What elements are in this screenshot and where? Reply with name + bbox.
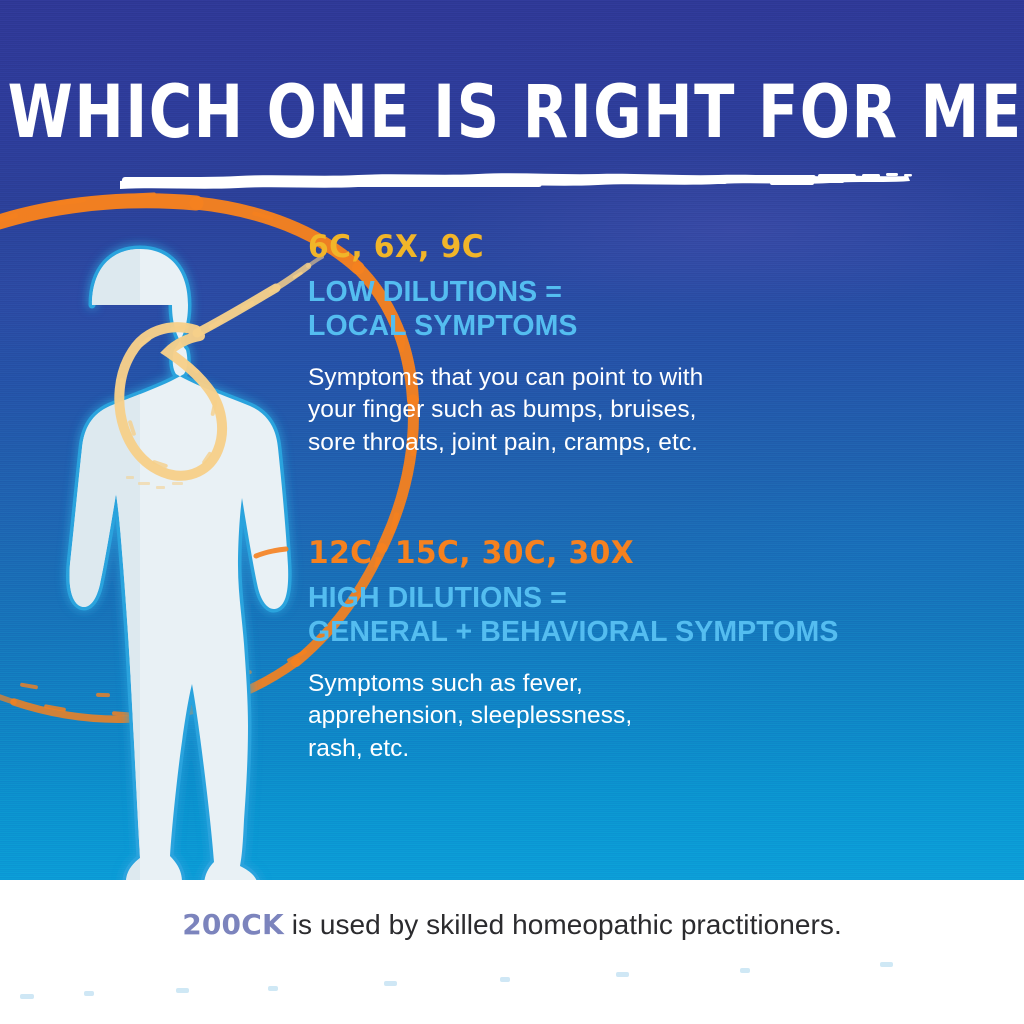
page-title-text: WHICH ONE IS RIGHT FOR ME? — [8, 76, 1017, 149]
low-dilutions-body-line-3: sore throats, joint pain, cramps, etc. — [308, 427, 703, 460]
high-dilutions-body-line-1: Symptoms such as fever, — [308, 668, 839, 701]
low-dilutions-subheading-line-2: LOCAL SYMPTOMS — [308, 310, 703, 344]
high-dilutions-subheading-line-1: HIGH DILUTIONS = — [308, 582, 839, 616]
high-dilutions-body-line-2: apprehension, sleeplessness, — [308, 700, 839, 733]
high-dilutions-block: 12C, 15C, 30C, 30X HIGH DILUTIONS = GENE… — [308, 538, 839, 766]
low-dilutions-body-line-1: Symptoms that you can point to with — [308, 362, 703, 395]
low-dilutions-doses: 6C, 6X, 9C — [308, 232, 688, 263]
high-dilutions-subheading-line-2: GENERAL + BEHAVIORAL SYMPTOMS — [308, 616, 839, 650]
low-dilutions-subheading-line-1: LOW DILUTIONS = — [308, 276, 703, 310]
high-dilutions-doses: 12C, 15C, 30C, 30X — [308, 538, 817, 569]
brushstroke-underline-icon — [118, 168, 920, 194]
high-dilutions-subheading: HIGH DILUTIONS = GENERAL + BEHAVIORAL SY… — [308, 582, 839, 650]
low-dilutions-body-line-2: your finger such as bumps, bruises, — [308, 394, 703, 427]
low-dilutions-subheading: LOW DILUTIONS = LOCAL SYMPTOMS — [308, 276, 703, 344]
footer-dose-accent: 200CK — [182, 908, 284, 941]
page-title: WHICH ONE IS RIGHT FOR ME? — [0, 76, 1024, 136]
low-dilutions-block: 6C, 6X, 9C LOW DILUTIONS = LOCAL SYMPTOM… — [308, 232, 703, 460]
infographic-canvas: WHICH ONE IS RIGHT FOR ME? 6C, 6X, 9C LO… — [0, 0, 1024, 1024]
high-dilutions-body-line-3: rash, etc. — [308, 733, 839, 766]
brush-bottom-edge — [0, 944, 1024, 1024]
footer-note: 200CK is used by skilled homeopathic pra… — [0, 908, 1024, 941]
footer-note-text: is used by skilled homeopathic practitio… — [284, 909, 842, 940]
